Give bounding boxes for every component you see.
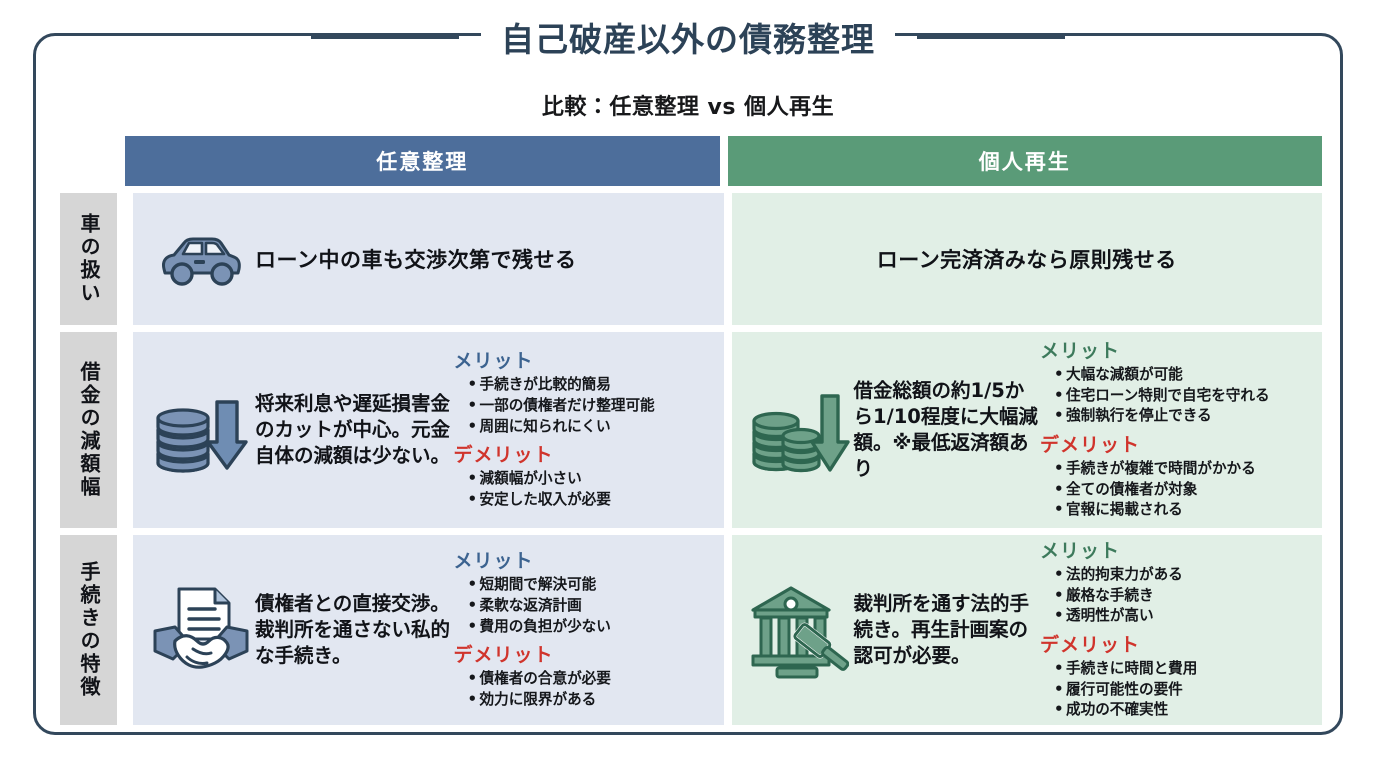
coin-stack-down-arrow-icon xyxy=(147,378,255,482)
demerit-list: 手続きに時間と費用 履行可能性の要件 成功の不確実性 xyxy=(1040,659,1308,721)
row-label-text: 車の扱い xyxy=(78,213,99,305)
demerit-list: 債権者の合意が必要 効力に限界がある xyxy=(454,669,710,710)
row-label-procedure: 手続きの特徴 xyxy=(60,535,117,725)
list-item: 厳格な手続き xyxy=(1054,586,1308,607)
demerit-title: デメリット xyxy=(1040,630,1308,657)
list-item: 強制執行を停止できる xyxy=(1054,406,1308,427)
list-item: 手続きが複雑で時間がかかる xyxy=(1054,459,1308,480)
list-item: 透明性が高い xyxy=(1054,606,1308,627)
infographic-frame: 自己破産以外の債務整理 比較：任意整理 vs 個人再生 任意整理 個人再生 車の… xyxy=(33,33,1343,735)
list-item: 債権者の合意が必要 xyxy=(468,669,710,690)
merit-list: 手続きが比較的簡易 一部の債権者だけ整理可能 周囲に知られにくい xyxy=(454,375,710,437)
merit-title: メリット xyxy=(1040,336,1308,363)
cell-text: ローン中の車も交渉次第で残せる xyxy=(255,244,576,274)
list-item: 履行可能性の要件 xyxy=(1054,680,1308,701)
list-item: 官報に掲載される xyxy=(1054,500,1308,521)
handshake-document-icon xyxy=(147,581,255,679)
list-item: 住宅ローン特則で自宅を守れる xyxy=(1054,386,1308,407)
merit-demerit-list: メリット 大幅な減額が可能 住宅ローン特則で自宅を守れる 強制執行を停止できる … xyxy=(1040,336,1308,524)
merit-demerit-list: メリット 法的拘束力がある 厳格な手続き 透明性が高い デメリット 手続きに時間… xyxy=(1040,536,1308,724)
list-item: 周囲に知られにくい xyxy=(468,417,710,438)
cell-saisei-car: ローン完済済みなら原則残せる xyxy=(732,193,1323,325)
list-item: 減額幅が小さい xyxy=(468,469,710,490)
merit-title: メリット xyxy=(454,346,710,373)
cell-nini-reduction: 将来利息や遅延損害金のカットが中心。元金自体の減額は少ない。 メリット 手続きが… xyxy=(133,332,724,528)
merit-list: 法的拘束力がある 厳格な手続き 透明性が高い xyxy=(1040,565,1308,627)
list-item: 短期間で解決可能 xyxy=(468,575,710,596)
merit-demerit-list: メリット 短期間で解決可能 柔軟な返済計画 費用の負担が少ない デメリット 債権… xyxy=(454,546,710,714)
cell-saisei-reduction: 借金総額の約1/5から1/10程度に大幅減額。※最低返済額あり メリット 大幅な… xyxy=(732,332,1323,528)
column-header-nini-seiri: 任意整理 xyxy=(125,136,720,186)
demerit-title: デメリット xyxy=(454,640,710,667)
list-item: 手続きが比較的簡易 xyxy=(468,375,710,396)
list-item: 全ての債権者が対象 xyxy=(1054,480,1308,501)
coin-stacks-down-arrow-icon xyxy=(746,378,854,482)
table-header-row: 任意整理 個人再生 xyxy=(125,136,1322,186)
row-label-text: 手続きの特徴 xyxy=(78,561,99,699)
page-subtitle: 比較：任意整理 vs 個人再生 xyxy=(36,89,1340,121)
cell-text: 借金総額の約1/5から1/10程度に大幅減額。※最低返済額あり xyxy=(854,378,1041,482)
row-label-reduction: 借金の減額幅 xyxy=(60,332,117,528)
courthouse-gavel-icon xyxy=(746,580,854,680)
title-row: 自己破産以外の債務整理 xyxy=(36,13,1340,61)
list-item: 法的拘束力がある xyxy=(1054,565,1308,586)
demerit-list: 減額幅が小さい 安定した収入が必要 xyxy=(454,469,710,510)
title-rule-right xyxy=(917,36,1065,39)
comparison-table: 任意整理 個人再生 車の扱い ローン中の車も xyxy=(60,136,1322,725)
row-label-car: 車の扱い xyxy=(60,193,117,325)
car-icon xyxy=(147,231,255,287)
list-item: 効力に限界がある xyxy=(468,690,710,711)
list-item: 成功の不確実性 xyxy=(1054,700,1308,721)
table-row: 手続きの特徴 債権者との直接交渉。裁判所を通さない私的な手続き。 xyxy=(60,535,1322,725)
list-item: 手続きに時間と費用 xyxy=(1054,659,1308,680)
column-header-kojin-saisei: 個人再生 xyxy=(728,136,1323,186)
demerit-title: デメリット xyxy=(454,440,710,467)
merit-list: 短期間で解決可能 柔軟な返済計画 費用の負担が少ない xyxy=(454,575,710,637)
cell-text: 裁判所を通す法的手続き。再生計画案の認可が必要。 xyxy=(854,591,1041,669)
cell-nini-car: ローン中の車も交渉次第で残せる xyxy=(133,193,724,325)
table-row: 借金の減額幅 xyxy=(60,332,1322,528)
list-item: 安定した収入が必要 xyxy=(468,490,710,511)
list-item: 一部の債権者だけ整理可能 xyxy=(468,396,710,417)
demerit-title: デメリット xyxy=(1040,430,1308,457)
merit-title: メリット xyxy=(1040,536,1308,563)
title-rule-left xyxy=(311,36,459,39)
list-item: 柔軟な返済計画 xyxy=(468,596,710,617)
page-title: 自己破産以外の債務整理 xyxy=(481,13,895,61)
cell-text: 将来利息や遅延損害金のカットが中心。元金自体の減額は少ない。 xyxy=(255,391,454,469)
table-row: 車の扱い ローン中の車も交渉次第で残せる ローン完済済みなら原則残せる xyxy=(60,193,1322,325)
merit-title: メリット xyxy=(454,546,710,573)
cell-saisei-procedure: 裁判所を通す法的手続き。再生計画案の認可が必要。 メリット 法的拘束力がある 厳… xyxy=(732,535,1323,725)
cell-nini-procedure: 債権者との直接交渉。裁判所を通さない私的な手続き。 メリット 短期間で解決可能 … xyxy=(133,535,724,725)
cell-text: ローン完済済みなら原則残せる xyxy=(877,244,1177,274)
list-item: 大幅な減額が可能 xyxy=(1054,365,1308,386)
merit-list: 大幅な減額が可能 住宅ローン特則で自宅を守れる 強制執行を停止できる xyxy=(1040,365,1308,427)
list-item: 費用の負担が少ない xyxy=(468,617,710,638)
demerit-list: 手続きが複雑で時間がかかる 全ての債権者が対象 官報に掲載される xyxy=(1040,459,1308,521)
cell-text: 債権者との直接交渉。裁判所を通さない私的な手続き。 xyxy=(255,591,454,669)
merit-demerit-list: メリット 手続きが比較的簡易 一部の債権者だけ整理可能 周囲に知られにくい デメ… xyxy=(454,346,710,514)
row-label-text: 借金の減額幅 xyxy=(78,361,99,499)
